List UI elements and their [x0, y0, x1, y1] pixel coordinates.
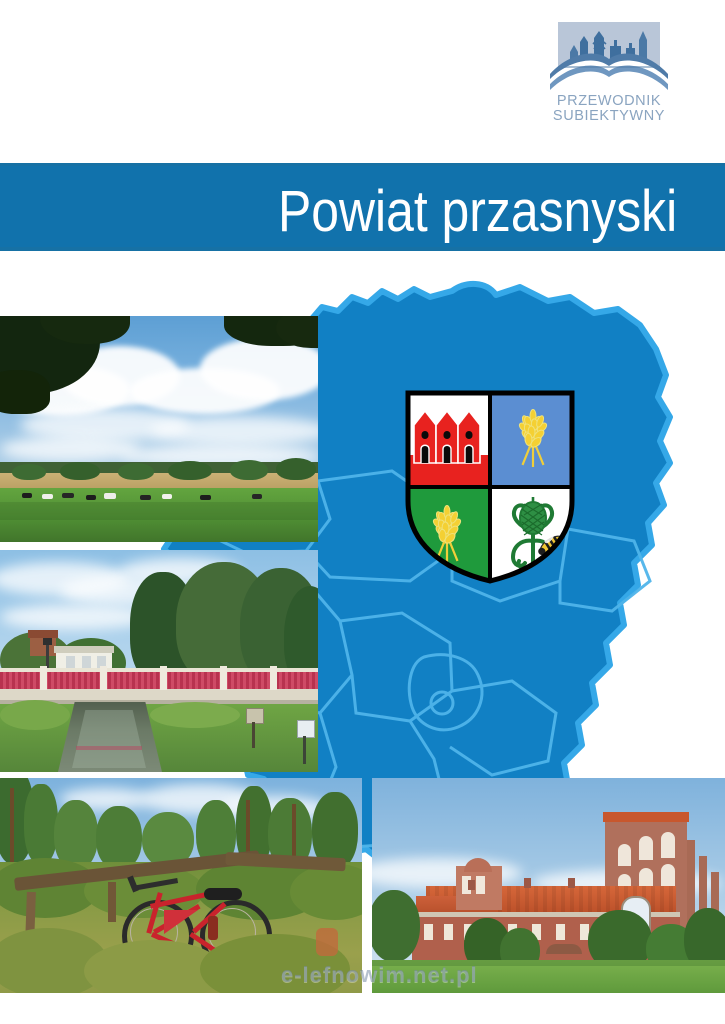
photo-meadow	[0, 316, 318, 542]
photo-bridge	[0, 550, 318, 772]
coat-of-arms	[404, 389, 576, 585]
logo-line-2: SUBIEKTYWNY	[544, 109, 674, 124]
banner-top-edge	[0, 163, 725, 166]
photo-bike	[0, 778, 362, 993]
logo-line-1: PRZEWODNIK	[544, 94, 674, 109]
title-banner: Powiat przasnyski	[0, 163, 725, 251]
photo-church	[372, 778, 725, 993]
open-book-with-landscape-icon	[550, 22, 668, 90]
cover-page: PRZEWODNIK SUBIEKTYWNY Powiat przasnyski	[0, 0, 725, 1024]
publisher-logo: PRZEWODNIK SUBIEKTYWNY	[544, 22, 674, 144]
site-watermark: e-lefnowim.net.pl	[281, 962, 505, 988]
three-towers-charge	[404, 411, 490, 487]
page-title: Powiat przasnyski	[278, 178, 677, 245]
